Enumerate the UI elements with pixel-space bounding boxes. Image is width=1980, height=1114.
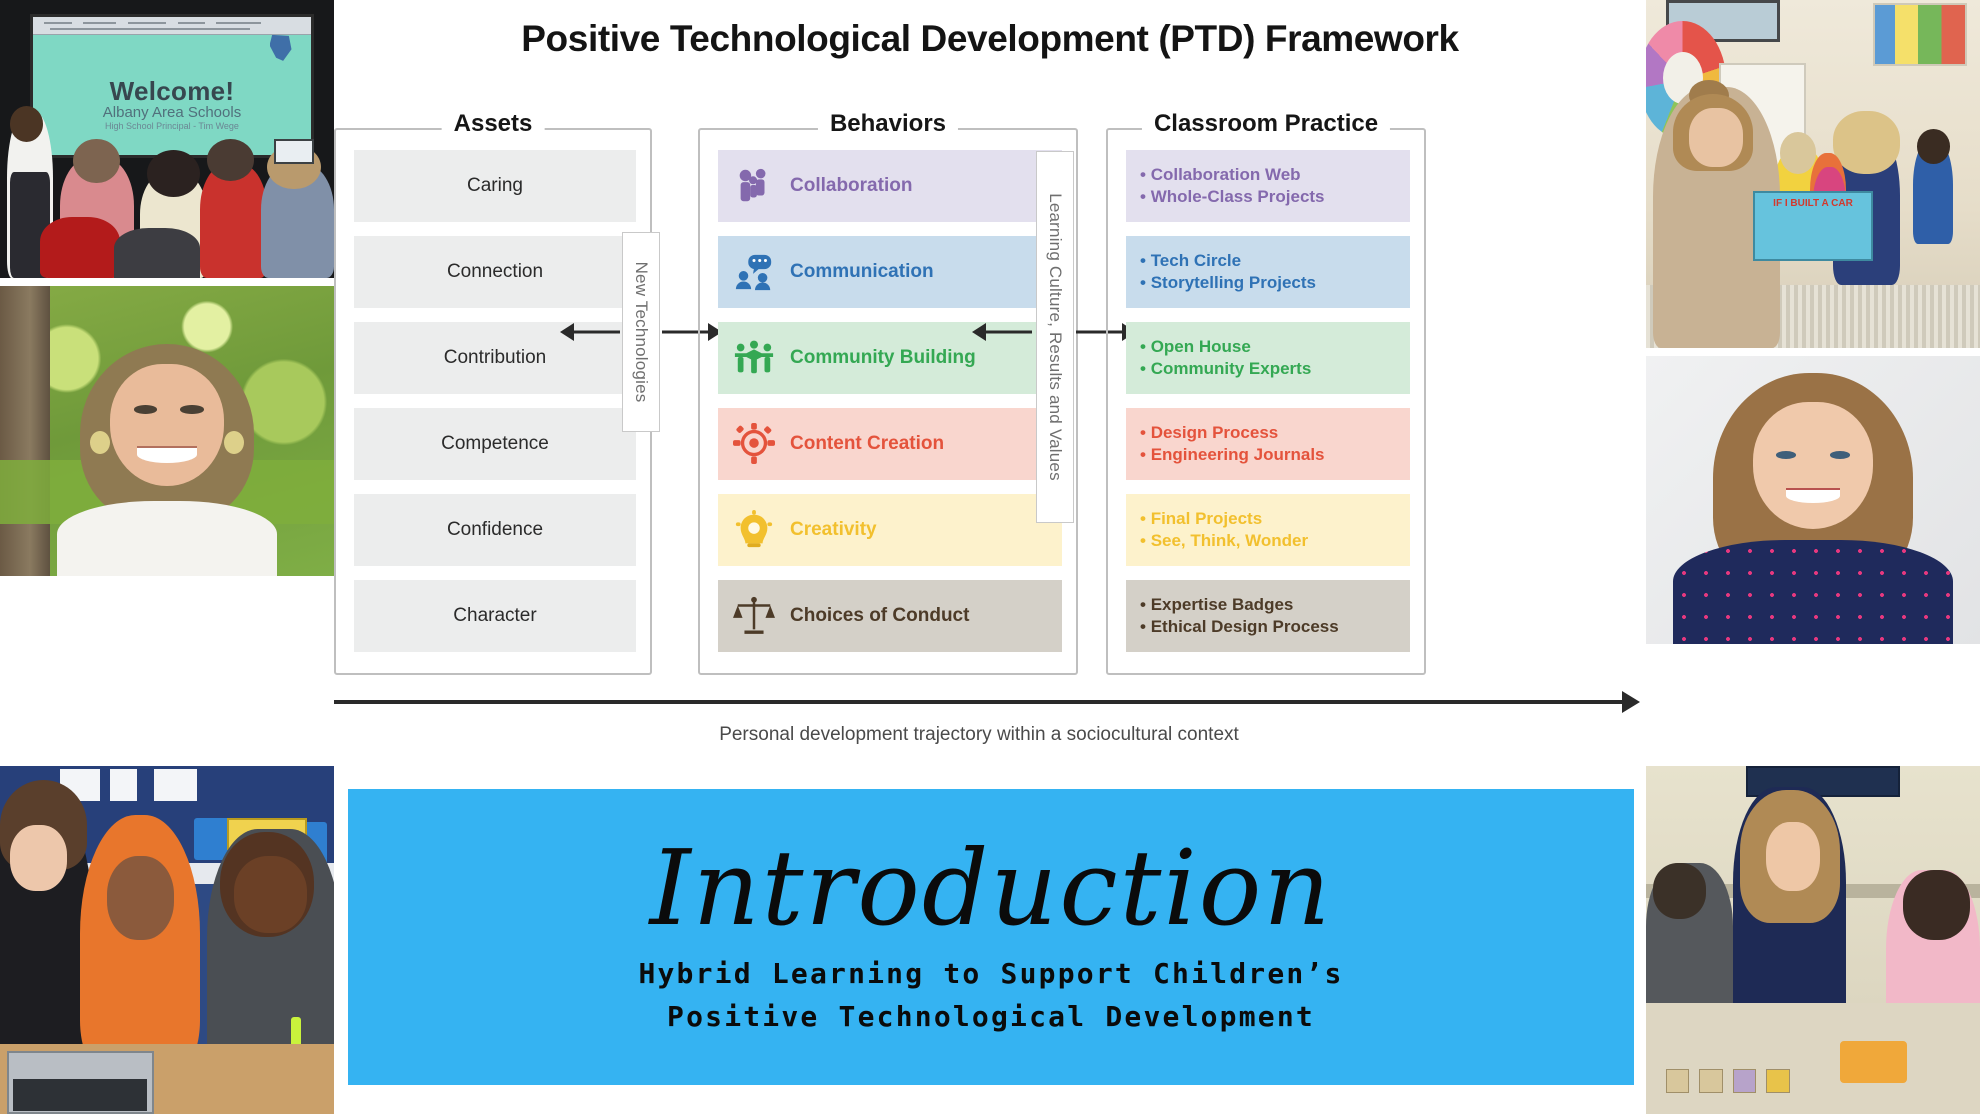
practice-bullet: Design Process [1140, 423, 1410, 443]
practice-bullet: Community Experts [1140, 359, 1410, 379]
educator-outdoor-portrait-photo [0, 286, 334, 576]
asset-item-caring[interactable]: Caring [354, 150, 636, 222]
practice-bullet: Open House [1140, 337, 1410, 357]
banner-subtitle-line-2: Positive Technological Development [667, 995, 1315, 1038]
practice-bullet: Collaboration Web [1140, 165, 1410, 185]
slide-welcome-title: Welcome! [33, 76, 311, 107]
behavior-label: Communication [790, 261, 934, 283]
practice-item-collaboration[interactable]: Collaboration Web Whole-Class Projects [1126, 150, 1410, 222]
slide-school-name: Albany Area Schools [33, 104, 311, 121]
behavior-item-collaboration[interactable]: Collaboration [718, 150, 1062, 222]
trajectory-caption: Personal development trajectory within a… [334, 724, 1624, 746]
slide-canvas: Welcome! Albany Area Schools High School… [0, 0, 1980, 1114]
practice-bullet: See, Think, Wonder [1140, 531, 1410, 551]
framework-title: Positive Technological Development (PTD)… [334, 18, 1646, 60]
trajectory-arrow-head-icon [1622, 691, 1640, 713]
behavior-label: Creativity [790, 519, 877, 541]
behavior-item-content-creation[interactable]: Content Creation [718, 408, 1062, 480]
practice-item-creativity[interactable]: Final Projects See, Think, Wonder [1126, 494, 1410, 566]
learning-culture-connector: Learning Culture, Results and Values [1036, 151, 1074, 523]
behavior-label: Choices of Conduct [790, 605, 969, 627]
asset-item-connection[interactable]: Connection [354, 236, 636, 308]
slide-presenter-name: High School Principal - Tim Wege [33, 121, 311, 131]
right-photo-column: IF I BUILT A CAR [1646, 0, 1980, 1114]
banner-title: Introduction [650, 836, 1333, 940]
speech-bubble-icon [732, 250, 776, 294]
picture-book-title: IF I BUILT A CAR [1756, 198, 1870, 209]
ptd-framework-diagram: Positive Technological Development (PTD)… [334, 0, 1646, 782]
practice-bullet: Expertise Badges [1140, 595, 1410, 615]
researcher-headshot-photo [1646, 356, 1980, 644]
workshop-robot-blocks-photo [1646, 766, 1980, 1114]
practice-item-community-building[interactable]: Open House Community Experts [1126, 322, 1410, 394]
asset-item-confidence[interactable]: Confidence [354, 494, 636, 566]
behavior-label: Collaboration [790, 175, 912, 197]
behaviors-legend: Behaviors [818, 110, 958, 138]
wall-art-poster [1873, 3, 1967, 66]
behavior-item-choices-of-conduct[interactable]: Choices of Conduct [718, 580, 1062, 652]
practice-item-choices-of-conduct[interactable]: Expertise Badges Ethical Design Process [1126, 580, 1410, 652]
classroom-practice-legend: Classroom Practice [1142, 110, 1390, 138]
teacher-reading-to-children-photo: IF I BUILT A CAR [1646, 0, 1980, 348]
practice-bullet: Whole-Class Projects [1140, 187, 1410, 207]
teacher-students-laptop-photo [0, 766, 334, 1114]
arrow-behaviors-to-culture [972, 323, 1032, 341]
assets-legend: Assets [442, 110, 545, 138]
banner-subtitle-line-1: Hybrid Learning to Support Children’s [638, 952, 1343, 995]
toy-robot [1840, 1041, 1907, 1083]
classroom-practice-panel: Classroom Practice Collaboration Web Who… [1106, 128, 1426, 675]
behavior-item-creativity[interactable]: Creativity [718, 494, 1062, 566]
practice-bullet: Final Projects [1140, 509, 1410, 529]
asset-item-competence[interactable]: Competence [354, 408, 636, 480]
learning-culture-label: Learning Culture, Results and Values [1045, 193, 1065, 481]
practice-bullet: Tech Circle [1140, 251, 1410, 271]
introduction-banner: Introduction Hybrid Learning to Support … [348, 789, 1634, 1085]
practice-bullet: Ethical Design Process [1140, 617, 1410, 637]
practice-bullet: Engineering Journals [1140, 445, 1410, 465]
new-technologies-label: New Technologies [631, 262, 651, 403]
assets-panel: Assets Caring Connection Contribution Co… [334, 128, 652, 675]
practice-bullet: Storytelling Projects [1140, 273, 1410, 293]
trajectory-arrow-line [334, 700, 1624, 704]
presentation-audience-photo: Welcome! Albany Area Schools High School… [0, 0, 334, 278]
left-photo-column: Welcome! Albany Area Schools High School… [0, 0, 334, 1114]
people-group-icon [732, 164, 776, 208]
behavior-label: Community Building [790, 347, 976, 369]
behavior-label: Content Creation [790, 433, 944, 455]
lightbulb-head-icon [732, 508, 776, 552]
behavior-item-communication[interactable]: Communication [718, 236, 1062, 308]
new-technologies-connector: New Technologies [622, 232, 660, 432]
state-logo-icon [270, 35, 292, 61]
community-hands-icon [732, 336, 776, 380]
arrow-assets-to-tech [560, 323, 620, 341]
asset-item-character[interactable]: Character [354, 580, 636, 652]
gear-bulb-icon [732, 422, 776, 466]
practice-item-content-creation[interactable]: Design Process Engineering Journals [1126, 408, 1410, 480]
scales-icon [732, 594, 776, 638]
practice-item-communication[interactable]: Tech Circle Storytelling Projects [1126, 236, 1410, 308]
behaviors-panel: Behaviors Collaboration [698, 128, 1078, 675]
